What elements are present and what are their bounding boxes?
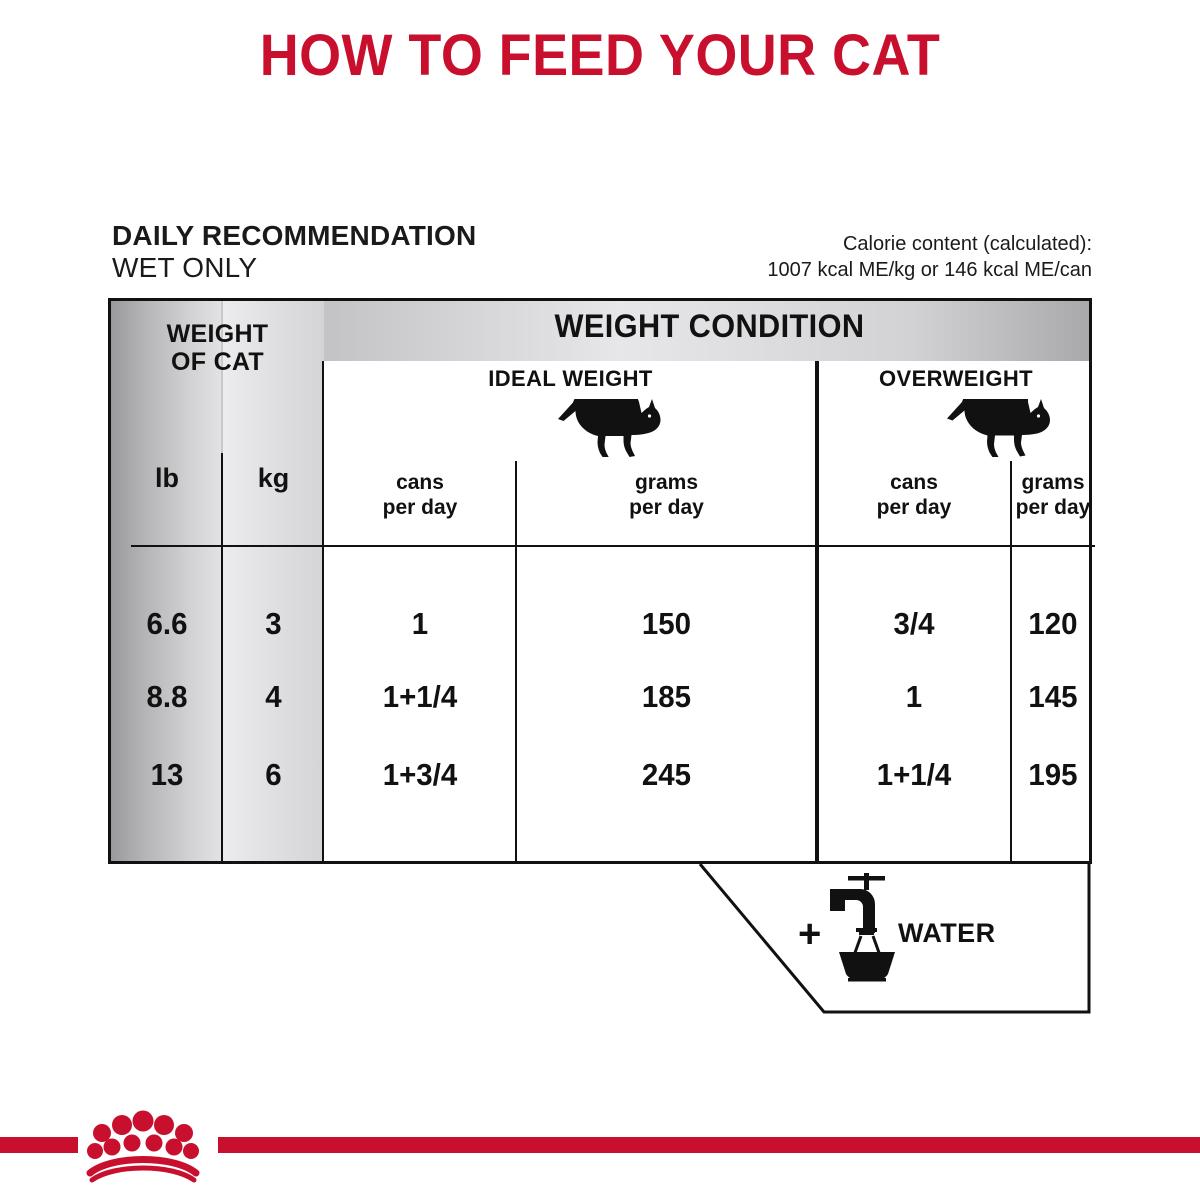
faucet-bowl-icon (826, 872, 906, 987)
calorie-content-line1: Calorie content (calculated): (767, 232, 1092, 258)
overweight-grams-header-line2: per day (1011, 496, 1095, 521)
lb-header: lb (111, 464, 223, 494)
cat-thin-icon (551, 399, 661, 462)
table-row: 120 (1013, 606, 1093, 642)
feeding-table: WEIGHT CONDITION WEIGHT OF CAT IDEAL WEI… (108, 298, 1092, 864)
calorie-content-line2: 1007 kcal ME/kg or 146 kcal ME/can (767, 258, 1092, 284)
table-row: 145 (1013, 679, 1093, 715)
table-row: 6.6 (114, 606, 220, 642)
page-title: HOW TO FEED YOUR CAT (42, 26, 1158, 87)
table-row: 1 (822, 679, 1006, 715)
weight-of-cat-header: WEIGHT OF CAT (111, 321, 324, 376)
ideal-grams-header: grams per day (516, 471, 817, 521)
kg-header: kg (223, 464, 324, 494)
cat-fat-icon (929, 399, 1051, 462)
overweight-cans-header-line1: cans (817, 471, 1011, 496)
ideal-cans-header-line2: per day (324, 496, 516, 521)
overweight-grams-header: grams per day (1011, 471, 1095, 521)
weight-condition-header: WEIGHT CONDITION (339, 309, 1079, 344)
calorie-content-note: Calorie content (calculated): 1007 kcal … (767, 232, 1092, 283)
ideal-cans-header: cans per day (324, 471, 516, 521)
table-row: 1+1/4 (329, 679, 511, 715)
divider-over-cans-grams (1010, 461, 1012, 864)
table-row: 1 (329, 606, 511, 642)
table-row: 1+1/4 (822, 757, 1006, 793)
daily-recommendation-heading: DAILY RECOMMENDATION WET ONLY (112, 220, 476, 284)
ideal-grams-header-line1: grams (516, 471, 817, 496)
royal-canin-crown-logo (78, 1107, 208, 1192)
weight-of-cat-line2: OF CAT (111, 349, 324, 377)
weight-of-cat-line1: WEIGHT (111, 321, 324, 349)
table-row: 8.8 (114, 679, 220, 715)
daily-recommendation-line2: WET ONLY (112, 252, 476, 284)
ideal-weight-header: IDEAL WEIGHT (324, 367, 817, 391)
ideal-grams-header-line2: per day (516, 496, 817, 521)
table-row: 4 (226, 679, 322, 715)
overweight-cans-header: cans per day (817, 471, 1011, 521)
table-row: 13 (114, 757, 220, 793)
overweight-grams-header-line1: grams (1011, 471, 1095, 496)
ideal-cans-header-line1: cans (324, 471, 516, 496)
divider-kg-ideal (322, 361, 324, 864)
divider-ideal-cans-grams (515, 461, 517, 864)
overweight-header: OVERWEIGHT (817, 367, 1095, 391)
divider-lb-kg (221, 453, 223, 864)
table-row: 6 (226, 757, 322, 793)
overweight-cans-header-line2: per day (817, 496, 1011, 521)
footer-bar-left (0, 1137, 78, 1153)
table-row: 1+3/4 (329, 757, 511, 793)
table-row: 3 (226, 606, 322, 642)
water-callout: + WATER (108, 862, 1092, 1014)
table-row: 3/4 (822, 606, 1006, 642)
daily-recommendation-line1: DAILY RECOMMENDATION (112, 220, 476, 252)
divider-ideal-overweight (815, 361, 819, 864)
table-row: 185 (524, 679, 810, 715)
table-row: 195 (1013, 757, 1093, 793)
divider-header-body (131, 545, 1095, 547)
footer-bar-right (218, 1137, 1200, 1153)
table-row: 245 (524, 757, 810, 793)
footer (0, 1092, 1200, 1200)
table-row: 150 (524, 606, 810, 642)
plus-icon: + (798, 914, 821, 954)
water-label: WATER (898, 918, 996, 949)
